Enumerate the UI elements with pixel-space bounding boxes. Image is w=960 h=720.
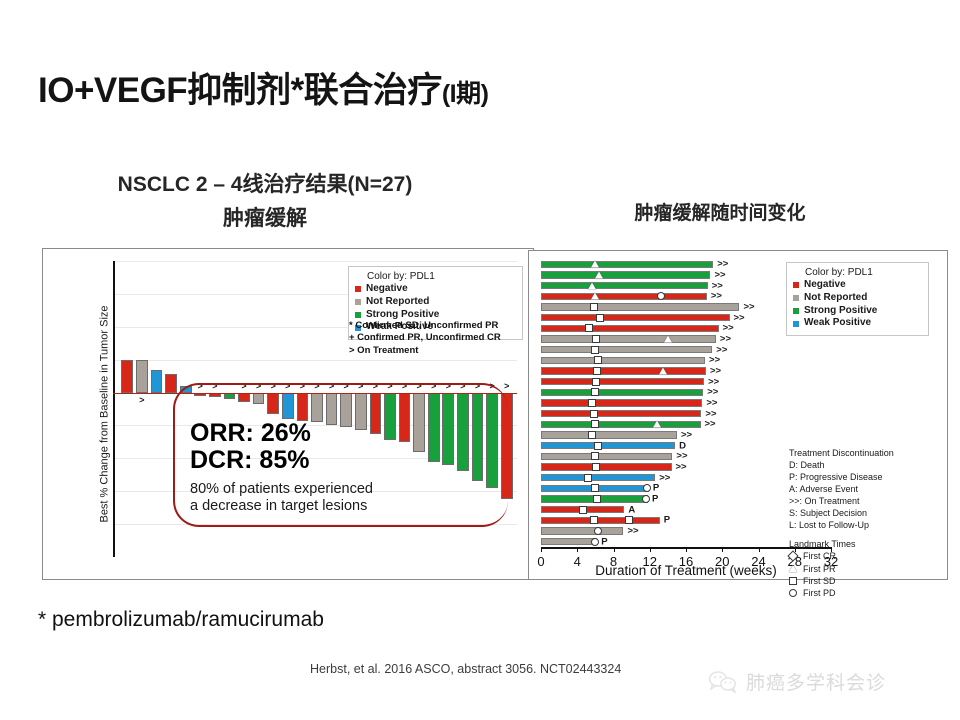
landmark-circle-icon <box>594 527 602 535</box>
legend-item-not-reported: Not Reported <box>355 296 515 309</box>
watermark-text: 肺癌多学科会诊 <box>746 668 886 695</box>
swimmer-pdl1-legend: Color by: PDL1 NegativeNot ReportedStron… <box>786 262 929 336</box>
landmark-label: First PD <box>803 587 836 599</box>
swimmer-bar <box>541 293 707 300</box>
landmark-square-icon <box>593 367 601 375</box>
discontinuation-rows: D: DeathP: Progressive DiseaseA: Adverse… <box>789 459 919 531</box>
waterfall-bar-marker: > <box>402 382 407 391</box>
landmark-row: First SD <box>789 575 919 587</box>
landmark-square-icon <box>590 303 598 311</box>
waterfall-bar-marker: > <box>271 382 276 391</box>
landmark-square-icon <box>590 410 598 418</box>
swimmer-bar <box>541 282 708 289</box>
swimmer-bar <box>541 421 701 428</box>
swimmer-bar <box>541 442 675 449</box>
landmark-square-icon <box>592 378 600 386</box>
swimmer-end-marker: >> <box>714 270 725 280</box>
legend-item-label: Not Reported <box>804 292 867 305</box>
waterfall-symbol-notes: * Confirmed SD, Unconfirmed PR+ Confirme… <box>349 320 501 357</box>
swimmer-end-marker: P <box>664 516 670 526</box>
waterfall-bar-marker: > <box>256 382 261 391</box>
landmark-square-icon <box>591 484 599 492</box>
wechat-icon <box>708 670 738 694</box>
waterfall-bar <box>311 393 323 423</box>
orr-stat: ORR: 26% <box>190 420 490 447</box>
landmark-title: Landmark Times <box>789 538 919 550</box>
left-panel-heading-line2: 肿瘤缓解 <box>85 202 445 232</box>
waterfall-bar-marker: > <box>460 382 465 391</box>
landmark-circle-icon <box>643 484 651 492</box>
landmark-label: First PR <box>803 563 836 575</box>
landmark-triangle-icon <box>588 282 596 289</box>
landmark-square-icon <box>591 420 599 428</box>
swimmer-bar <box>541 410 701 417</box>
landmark-square-icon <box>596 314 604 322</box>
landmark-triangle-icon <box>664 336 672 343</box>
landmark-rows: First CRFirst PRFirst SDFirst PD <box>789 550 919 599</box>
swimmer-x-tickmark <box>650 547 651 552</box>
legend-rows: NegativeNot ReportedStrong PositiveWeak … <box>793 279 921 330</box>
discontinuation-row: L: Lost to Follow-Up <box>789 519 919 531</box>
discontinuation-row: A: Adverse Event <box>789 483 919 495</box>
landmark-row: First CR <box>789 550 919 562</box>
landmark-square-icon <box>584 474 592 482</box>
swimmer-bar <box>541 463 672 470</box>
swimmer-end-marker: >> <box>717 260 728 270</box>
landmark-square-icon <box>594 356 602 364</box>
landmark-square-icon <box>590 516 598 524</box>
discontinuation-row: S: Subject Decision <box>789 507 919 519</box>
swimmer-bar <box>541 378 704 385</box>
swimmer-end-marker: D <box>679 441 686 451</box>
waterfall-zero-line <box>113 393 517 395</box>
waterfall-note: + Confirmed PR, Unconfirmed CR <box>349 332 501 344</box>
swimmer-x-tickmark <box>722 547 723 552</box>
swimmer-end-marker: >> <box>712 281 723 291</box>
waterfall-bar-marker: > <box>387 382 392 391</box>
swimmer-end-marker: >> <box>723 324 734 334</box>
legend-swatch-icon <box>793 282 799 288</box>
waterfall-bar-marker: > <box>300 382 305 391</box>
landmark-square-icon <box>593 495 601 503</box>
swimmer-x-tickmark <box>759 547 760 552</box>
landmark-row: First PD <box>789 587 919 599</box>
swimmer-bar <box>541 389 703 396</box>
landmark-square-icon <box>579 506 587 514</box>
waterfall-bar <box>136 360 148 392</box>
swimmer-end-marker: >> <box>734 313 745 323</box>
swimmer-end-marker: >> <box>676 452 687 462</box>
landmark-square-icon <box>592 335 600 343</box>
waterfall-bar <box>282 393 294 419</box>
legend-swatch-icon <box>793 295 799 301</box>
legend-item-not-reported: Not Reported <box>793 292 921 305</box>
landmark-square-icon <box>591 346 599 354</box>
legend-item-label: Negative <box>804 279 846 292</box>
waterfall-bar-marker: > <box>329 382 334 391</box>
waterfall-bar-marker: > <box>198 382 203 391</box>
swimmer-bar <box>541 314 730 321</box>
swimmer-bar <box>541 527 623 534</box>
swimmer-end-marker: >> <box>707 388 718 398</box>
swimmer-end-marker: >> <box>720 334 731 344</box>
legend-swatch-icon <box>355 286 361 292</box>
waterfall-bar <box>180 386 192 393</box>
dcr-stat: DCR: 85% <box>190 447 490 474</box>
swimmer-end-marker: P <box>601 537 607 547</box>
landmark-square-icon <box>592 463 600 471</box>
legend-title: Color by: PDL1 <box>355 271 515 282</box>
swimmer-end-marker: >> <box>743 302 754 312</box>
waterfall-bar-marker: > <box>504 382 509 391</box>
legend-swatch-icon <box>355 299 361 305</box>
landmark-square-icon <box>789 577 797 585</box>
waterfall-bar <box>165 374 177 392</box>
swimmer-x-tickmark <box>686 547 687 552</box>
waterfall-bar-marker: > <box>344 382 349 391</box>
legend-item-weak-positive: Weak Positive <box>793 317 921 330</box>
swimmer-end-marker: >> <box>627 526 638 536</box>
landmark-triangle-icon <box>789 565 797 572</box>
callout-note-line2: a decrease in target lesions <box>190 498 490 515</box>
swimmer-end-marker: >> <box>716 345 727 355</box>
swimmer-end-marker: A <box>628 505 635 515</box>
waterfall-gridline <box>113 524 517 525</box>
swimmer-bar <box>541 271 710 278</box>
waterfall-bar <box>267 393 279 414</box>
legend-item-label: Not Reported <box>366 296 429 309</box>
swimmer-end-marker: >> <box>711 292 722 302</box>
landmark-triangle-icon <box>653 421 661 428</box>
waterfall-bar-marker: > <box>417 382 422 391</box>
discontinuation-row: P: Progressive Disease <box>789 471 919 483</box>
page-title: IO+VEGF抑制剂*联合治疗(I期) <box>38 62 488 113</box>
swimmer-x-tickmark <box>541 547 542 552</box>
waterfall-bar-marker: > <box>446 382 451 391</box>
swimmer-bar <box>541 303 739 310</box>
landmark-circle-icon <box>591 538 599 546</box>
swimmer-bar <box>541 357 705 364</box>
waterfall-bar <box>501 393 513 500</box>
callout-note-line1: 80% of patients experienced <box>190 481 490 498</box>
waterfall-gridline <box>113 261 517 262</box>
landmark-label: First CR <box>803 550 836 562</box>
waterfall-y-axis <box>113 261 115 557</box>
waterfall-gridline <box>113 360 517 361</box>
landmark-triangle-icon <box>595 272 603 279</box>
waterfall-bar <box>253 393 265 405</box>
landmark-circle-icon <box>642 495 650 503</box>
waterfall-note: > On Treatment <box>349 345 501 357</box>
waterfall-bar-marker: > <box>358 382 363 391</box>
swimmer-end-marker: >> <box>659 473 670 483</box>
waterfall-bar <box>121 360 133 393</box>
swimmer-end-marker: >> <box>709 356 720 366</box>
swimmer-bar <box>541 335 716 342</box>
landmark-square-icon <box>594 442 602 450</box>
swimmer-end-marker: >> <box>708 377 719 387</box>
landmark-square-icon <box>625 516 633 524</box>
swimmer-bar <box>541 325 719 332</box>
waterfall-bar <box>297 393 309 421</box>
legend-item-label: Weak Positive <box>804 317 871 330</box>
waterfall-bar-marker: > <box>431 382 436 391</box>
callout-note: 80% of patients experienced a decrease i… <box>190 481 490 516</box>
landmark-triangle-icon <box>591 293 599 300</box>
left-panel-heading-line1: NSCLC 2 – 4线治疗结果(N=27) <box>85 168 445 198</box>
landmark-square-icon <box>588 431 596 439</box>
swimmer-bar <box>541 538 597 545</box>
watermark: 肺癌多学科会诊 <box>708 668 886 695</box>
legend-swatch-icon <box>355 312 361 318</box>
landmark-square-icon <box>588 399 596 407</box>
waterfall-bar-marker: > <box>285 382 290 391</box>
discontinuation-row: >>: On Treatment <box>789 495 919 507</box>
legend-item-negative: Negative <box>793 279 921 292</box>
discontinuation-legend: Treatment Discontinuation D: DeathP: Pro… <box>789 447 919 599</box>
waterfall-bar-marker: > <box>139 396 144 405</box>
callout-text: ORR: 26% DCR: 85% 80% of patients experi… <box>190 420 490 516</box>
slide-root: IO+VEGF抑制剂*联合治疗(I期) NSCLC 2 – 4线治疗结果(N=2… <box>0 0 960 720</box>
waterfall-bar-marker: > <box>212 382 217 391</box>
page-title-main: IO+VEGF抑制剂*联合治疗 <box>38 71 442 110</box>
landmark-triangle-icon <box>591 261 599 268</box>
swimmer-x-tickmark <box>577 547 578 552</box>
right-panel-heading: 肿瘤缓解随时间变化 <box>575 198 865 225</box>
page-title-phase: (I期) <box>442 80 489 108</box>
swimmer-bar <box>541 517 660 524</box>
swimmer-end-marker: >> <box>676 462 687 472</box>
legend-item-negative: Negative <box>355 283 515 296</box>
footnote: * pembrolizumab/ramucirumab <box>38 608 324 632</box>
landmark-circle-icon <box>657 292 665 300</box>
swimmer-bar <box>541 453 672 460</box>
waterfall-bar-marker: > <box>373 382 378 391</box>
waterfall-note: * Confirmed SD, Unconfirmed PR <box>349 320 501 332</box>
discontinuation-title: Treatment Discontinuation <box>789 447 919 459</box>
swimmer-end-marker: >> <box>710 366 721 376</box>
waterfall-bar-marker: > <box>489 382 494 391</box>
legend-item-label: Strong Positive <box>804 305 877 318</box>
citation: Herbst, et al. 2016 ASCO, abstract 3056.… <box>310 662 621 676</box>
landmark-square-icon <box>591 452 599 460</box>
landmark-square-icon <box>585 324 593 332</box>
swimmer-x-tickmark <box>614 547 615 552</box>
landmark-triangle-icon <box>659 368 667 375</box>
swimmer-bar <box>541 261 713 268</box>
swimmer-bar <box>541 399 702 406</box>
swimmer-end-marker: P <box>652 494 658 504</box>
legend-swatch-icon <box>793 321 799 327</box>
swimmer-bar <box>541 431 677 438</box>
swimmer-bar <box>541 474 655 481</box>
discontinuation-row: D: Death <box>789 459 919 471</box>
swimmer-bar <box>541 367 706 374</box>
swimmer-bar <box>541 346 712 353</box>
swimmer-x-axis-label: Duration of Treatment (weeks) <box>541 563 831 578</box>
legend-item-strong-positive: Strong Positive <box>793 305 921 318</box>
landmark-square-icon <box>591 388 599 396</box>
swimmer-end-marker: >> <box>705 420 716 430</box>
landmark-label: First SD <box>803 575 836 587</box>
waterfall-bar <box>151 370 163 393</box>
waterfall-y-axis-label: Best % Change from Baseline in Tumor Siz… <box>99 305 111 522</box>
swimmer-x-axis: 048121620242832 <box>541 547 831 549</box>
swimmer-end-marker: >> <box>681 430 692 440</box>
waterfall-bar-marker: > <box>241 382 246 391</box>
landmark-row: First PR <box>789 563 919 575</box>
swimmer-end-marker: >> <box>705 409 716 419</box>
waterfall-bar-marker: > <box>475 382 480 391</box>
landmark-circle-icon <box>789 589 797 597</box>
legend-swatch-icon <box>793 308 799 314</box>
swimmer-end-marker: P <box>653 484 659 494</box>
landmark-diamond-icon <box>789 552 797 560</box>
waterfall-bar-marker: > <box>314 382 319 391</box>
swimmer-end-marker: >> <box>706 398 717 408</box>
legend-title: Color by: PDL1 <box>793 267 921 278</box>
legend-item-label: Negative <box>366 283 408 296</box>
